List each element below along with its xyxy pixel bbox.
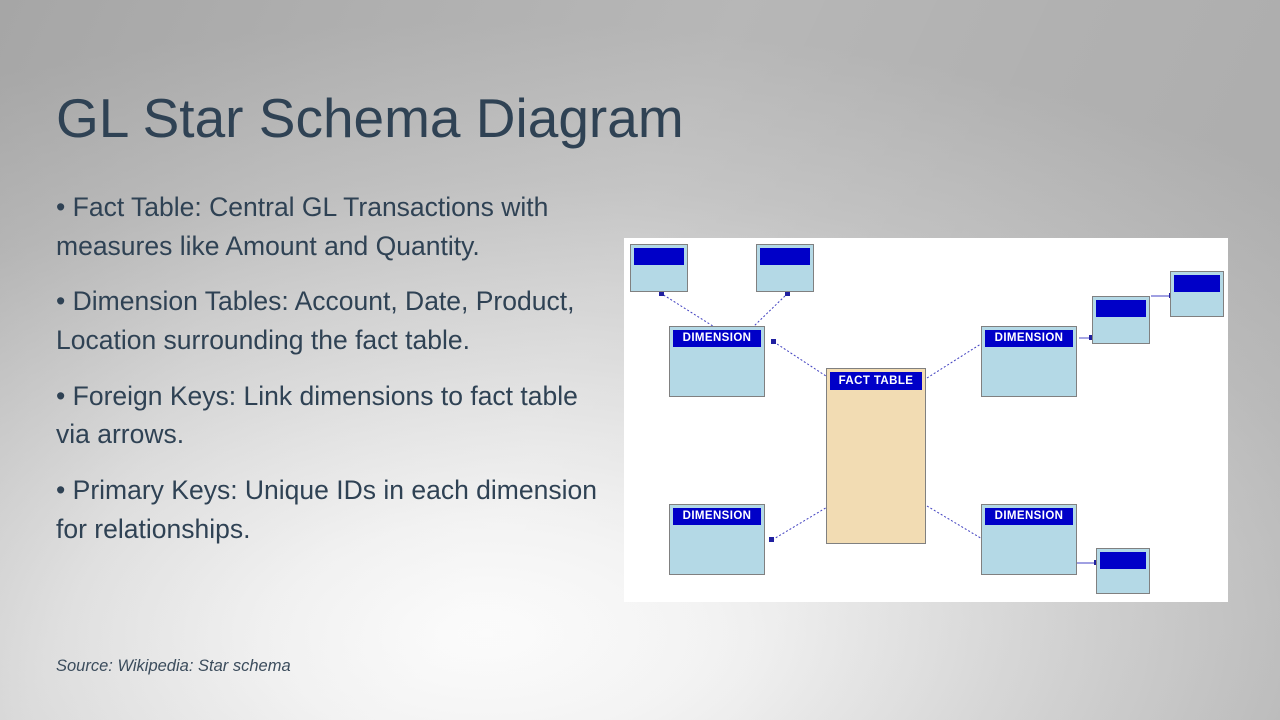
entity-box-dimension-bottom-left[interactable]: DIMENSION bbox=[669, 504, 765, 575]
bullet-list: • Fact Table: Central GL Transactions wi… bbox=[56, 188, 616, 549]
entity-header-label: DIMENSION bbox=[673, 330, 761, 347]
entity-box-dimension-top-left[interactable]: DIMENSION bbox=[669, 326, 765, 397]
entity-box-outrigger-right-mid[interactable] bbox=[1092, 296, 1150, 344]
entity-box-dimension-top-right[interactable]: DIMENSION bbox=[981, 326, 1077, 397]
entity-header-label: DIMENSION bbox=[985, 330, 1073, 347]
bullet-item-dimension-tables: • Dimension Tables: Account, Date, Produ… bbox=[56, 282, 616, 359]
entity-header-label bbox=[1096, 300, 1146, 317]
entity-box-outrigger-right-far[interactable] bbox=[1170, 271, 1224, 317]
entity-box-outrigger-top-left[interactable] bbox=[630, 244, 688, 292]
entity-header-label bbox=[1100, 552, 1146, 569]
bullet-item-foreign-keys: • Foreign Keys: Link dimensions to fact … bbox=[56, 377, 616, 454]
entity-box-fact-table[interactable]: FACT TABLE bbox=[826, 368, 926, 544]
entity-box-outrigger-top-mid[interactable] bbox=[756, 244, 814, 292]
entity-header-label: FACT TABLE bbox=[830, 372, 922, 390]
star-schema-diagram: DIMENSION FACT TABLE DIMENSION DIMENSION… bbox=[624, 238, 1228, 602]
entity-header-label bbox=[1174, 275, 1220, 292]
bullet-item-primary-keys: • Primary Keys: Unique IDs in each dimen… bbox=[56, 471, 616, 548]
entity-header-label: DIMENSION bbox=[673, 508, 761, 525]
entity-header-label: DIMENSION bbox=[985, 508, 1073, 525]
entity-box-outrigger-bottom-right[interactable] bbox=[1096, 548, 1150, 594]
bullet-item-fact-table: • Fact Table: Central GL Transactions wi… bbox=[56, 188, 616, 265]
source-citation: Source: Wikipedia: Star schema bbox=[56, 657, 291, 676]
entity-header-label bbox=[760, 248, 810, 265]
entity-box-dimension-bottom-right[interactable]: DIMENSION bbox=[981, 504, 1077, 575]
slide: GL Star Schema Diagram • Fact Table: Cen… bbox=[0, 0, 1280, 720]
entity-header-label bbox=[634, 248, 684, 265]
page-title: GL Star Schema Diagram bbox=[56, 89, 684, 147]
